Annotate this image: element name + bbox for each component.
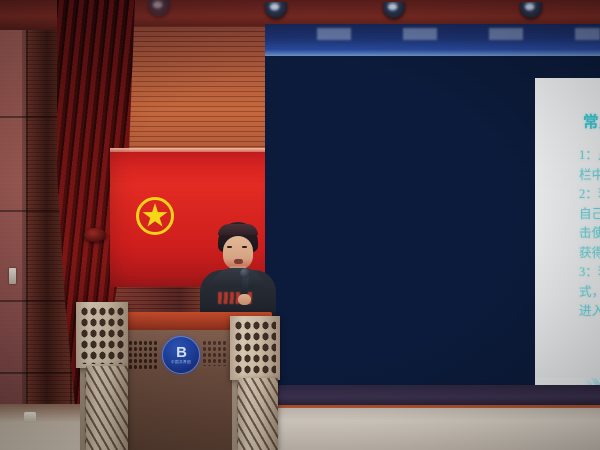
- tower-speaker-right-base: [238, 378, 278, 450]
- podium-emblem-mark: B: [176, 346, 186, 360]
- projection-screen: 常用功能——公式编辑 1：点击插入，在新的功能 栏中选择公式 2：若是在已有的公…: [265, 24, 600, 419]
- tower-speaker-left: [76, 302, 128, 368]
- podium-emblem: B 中国共青团: [162, 336, 200, 374]
- screen-ledge: [265, 385, 600, 407]
- speaker-vent-slots: [86, 366, 128, 450]
- speaker-vent-slots: [238, 378, 278, 450]
- lecture-hall-photo: 常用功能——公式编辑 1：点击插入，在新的功能 栏中选择公式 2：若是在已有的公…: [0, 0, 600, 450]
- slide-body-text: 1：点击插入，在新的功能 栏中选择公式 2：若是在已有的公式中有 自己要用到的可…: [579, 146, 600, 322]
- podium-emblem-subtext: 中国共青团: [171, 360, 191, 365]
- tower-speaker-left-base: [86, 366, 128, 450]
- presentation-slide: 常用功能——公式编辑 1：点击插入，在新的功能 栏中选择公式 2：若是在已有的公…: [535, 78, 600, 426]
- wall-panel-behind-flag: [112, 26, 282, 154]
- wall-outlet: [24, 412, 36, 423]
- presenter-eye: [227, 246, 232, 248]
- presenter-headband: [218, 224, 258, 235]
- presenter-mouth: [234, 259, 243, 264]
- light-switch[interactable]: [9, 268, 16, 284]
- slide-title: 常用功能——公式编辑: [583, 110, 600, 132]
- screen-top-band: [265, 24, 600, 56]
- microphone-head-icon: [240, 268, 250, 278]
- tower-speaker-right: [230, 316, 280, 380]
- speaker-perforation: [234, 320, 276, 376]
- presenter-eye: [242, 246, 247, 248]
- presenter-face: [223, 236, 253, 270]
- presenter-hand: [238, 294, 251, 305]
- speaker-perforation: [80, 306, 124, 364]
- podium-grille: [128, 340, 158, 370]
- curtain-tieback: [84, 228, 106, 242]
- podium-grille: [202, 340, 228, 366]
